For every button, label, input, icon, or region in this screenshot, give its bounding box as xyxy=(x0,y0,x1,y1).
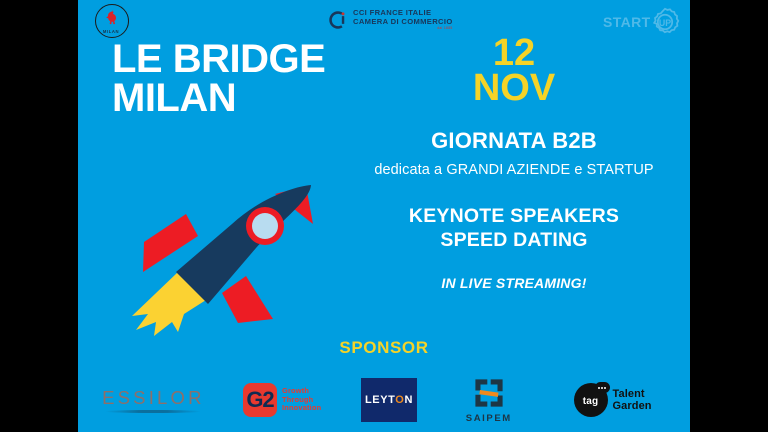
event-subtitle-giornata: GIORNATA B2B xyxy=(346,128,682,154)
startup-gear-logo: START UP xyxy=(601,4,683,40)
event-date-day: 12 xyxy=(346,36,682,71)
speech-bubble-icon xyxy=(595,382,610,393)
event-program-list: KEYNOTE SPEAKERS SPEED DATING xyxy=(346,204,682,253)
cci-france-italie-logo: CCI FRANCE ITALIE CAMERA DI COMMERCIO da… xyxy=(328,5,488,35)
startup-up-badge: UP xyxy=(659,18,671,28)
rocket-illustration xyxy=(110,180,325,340)
essilor-swoosh-icon xyxy=(105,410,201,413)
cci-since-label: dal 1885 xyxy=(353,27,453,31)
talent-garden-wordmark: Talent Garden xyxy=(613,388,652,413)
gear-icon: UP xyxy=(649,6,681,38)
talent-garden-mark: tag xyxy=(574,383,608,417)
program-item-speed-dating: SPEED DATING xyxy=(346,228,682,252)
leyton-part-1: LEYT xyxy=(365,394,395,406)
sponsor-logo-talent-garden: tag Talent Garden xyxy=(557,376,669,424)
bubble-dot xyxy=(598,387,600,389)
event-streaming-note: IN LIVE STREAMING! xyxy=(346,275,682,291)
cci-monogram-icon xyxy=(328,10,348,30)
sponsor-logo-row: ESSILOR G2 Growth Through Innovation LEY… xyxy=(88,372,680,428)
slide-canvas: MILAN CCI FRANCE ITALIE CAMERA DI COMMER… xyxy=(78,0,690,432)
g2-badge: G2 xyxy=(243,383,277,417)
rooster-icon xyxy=(103,9,119,25)
event-date: 12 NOV xyxy=(346,36,682,106)
sponsor-logo-leyton: LEYTON xyxy=(357,376,421,424)
rocket-fin-lower xyxy=(222,276,273,323)
bubble-dot xyxy=(604,387,606,389)
tag-wordmark: tag xyxy=(583,396,599,407)
g2-tagline: Growth Through Innovation xyxy=(282,387,321,413)
event-audience-line: dedicata a GRANDI AZIENDE e STARTUP xyxy=(346,162,682,178)
essilor-wordmark: ESSILOR xyxy=(102,387,205,409)
rocket-window-glass xyxy=(252,213,278,239)
cci-line-2: CAMERA DI COMMERCIO xyxy=(353,18,453,27)
leyton-box: LEYTON xyxy=(361,378,417,422)
talent-garden-line-1: Talent xyxy=(613,388,652,400)
startup-wordmark: START xyxy=(603,14,651,30)
sponsor-logo-essilor: ESSILOR xyxy=(99,376,207,424)
leyton-wordmark: LEYTON xyxy=(365,394,413,406)
saipem-wordmark: SAIPEM xyxy=(466,413,512,424)
event-details-column: 12 NOV GIORNATA B2B dedicata a GRANDI AZ… xyxy=(346,36,682,291)
talent-garden-line-2: Garden xyxy=(613,400,652,412)
event-date-month: NOV xyxy=(346,71,682,106)
sponsor-logo-saipem: SAIPEM xyxy=(444,376,534,424)
sponsor-logo-g2: G2 Growth Through Innovation xyxy=(230,376,334,424)
sponsor-section-title: SPONSOR xyxy=(78,338,690,358)
leyton-part-3: N xyxy=(404,394,413,406)
g2-tagline-line-3: Innovation xyxy=(282,404,321,413)
cci-wordmark: CCI FRANCE ITALIE CAMERA DI COMMERCIO da… xyxy=(353,9,453,31)
video-frame: MILAN CCI FRANCE ITALIE CAMERA DI COMMER… xyxy=(0,0,768,432)
milan-caption: MILAN xyxy=(92,29,130,34)
bubble-dot xyxy=(601,387,603,389)
program-item-keynote: KEYNOTE SPEAKERS xyxy=(346,204,682,228)
saipem-s-icon xyxy=(472,376,506,410)
